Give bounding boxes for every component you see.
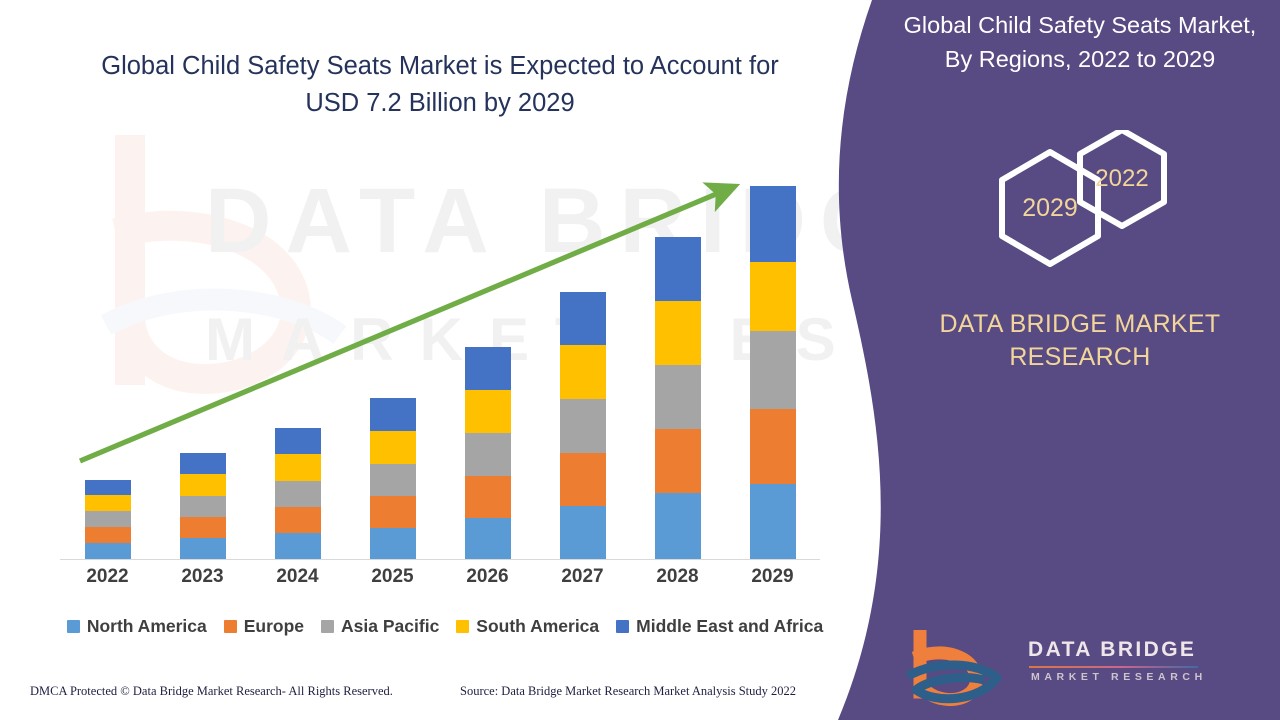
x-axis-tick-2028: 2028: [630, 566, 725, 588]
stacked-bar[interactable]: [370, 398, 416, 559]
bar-segment-europe[interactable]: [560, 453, 606, 506]
legend-swatch-icon: [67, 620, 80, 633]
bar-segment-north-america[interactable]: [370, 528, 416, 559]
bar-segment-middle-east-and-africa[interactable]: [655, 237, 701, 301]
right-panel-title: Global Child Safety Seats Market, By Reg…: [880, 8, 1280, 76]
bar-segment-europe[interactable]: [180, 517, 226, 538]
bar-segment-asia-pacific[interactable]: [85, 511, 131, 527]
bar-segment-asia-pacific[interactable]: [560, 399, 606, 453]
bar-group-2023: [155, 150, 250, 559]
x-axis-tick-2026: 2026: [440, 566, 535, 588]
bar-segment-europe[interactable]: [655, 429, 701, 493]
chart-panel: DATA BRIDGE MARKET RESEARCH Global Child…: [0, 0, 900, 720]
legend-item-middle-east-and-africa[interactable]: Middle East and Africa: [616, 616, 823, 637]
stacked-bar[interactable]: [180, 453, 226, 559]
bar-segment-europe[interactable]: [275, 507, 321, 533]
legend-label: North America: [87, 616, 207, 637]
chart-title-line-2: USD 7.2 Billion by 2029: [60, 85, 820, 122]
bar-group-2022: [60, 150, 155, 559]
logo-text-line-2: MARKET RESEARCH: [1031, 671, 1207, 683]
stacked-bar[interactable]: [750, 186, 796, 559]
right-panel-title-line-2: By Regions, 2022 to 2029: [892, 42, 1268, 76]
bar-segment-europe[interactable]: [465, 476, 511, 518]
stacked-bar[interactable]: [560, 292, 606, 559]
bar-segment-middle-east-and-africa[interactable]: [370, 398, 416, 431]
bar-segment-asia-pacific[interactable]: [655, 365, 701, 429]
legend-item-europe[interactable]: Europe: [224, 616, 304, 637]
legend-label: Europe: [244, 616, 304, 637]
right-panel-title-line-1: Global Child Safety Seats Market,: [892, 8, 1268, 42]
x-axis-tick-2023: 2023: [155, 566, 250, 588]
bar-series-container: [60, 150, 820, 559]
bar-segment-asia-pacific[interactable]: [750, 331, 796, 409]
bar-group-2027: [535, 150, 630, 559]
legend-label: Middle East and Africa: [636, 616, 823, 637]
chart-title-line-1: Global Child Safety Seats Market is Expe…: [60, 48, 820, 85]
bar-segment-asia-pacific[interactable]: [370, 464, 416, 496]
legend-swatch-icon: [456, 620, 469, 633]
x-axis-tick-2022: 2022: [60, 566, 155, 588]
x-axis-tick-2025: 2025: [345, 566, 440, 588]
hexagon-2022-label: 2022: [1095, 165, 1148, 192]
bar-segment-middle-east-and-africa[interactable]: [750, 186, 796, 262]
stacked-bar[interactable]: [465, 347, 511, 559]
bar-segment-middle-east-and-africa[interactable]: [85, 480, 131, 495]
bar-segment-middle-east-and-africa[interactable]: [275, 428, 321, 454]
brand-line-2: RESEARCH: [880, 341, 1280, 374]
bar-segment-south-america[interactable]: [370, 431, 416, 464]
legend-swatch-icon: [321, 620, 334, 633]
brand-line-1: DATA BRIDGE MARKET: [880, 308, 1280, 341]
bar-segment-south-america[interactable]: [85, 495, 131, 511]
footer-source: Source: Data Bridge Market Research Mark…: [460, 684, 796, 699]
bar-group-2026: [440, 150, 535, 559]
footer-copyright: DMCA Protected © Data Bridge Market Rese…: [30, 684, 393, 699]
bar-segment-south-america[interactable]: [750, 262, 796, 331]
bar-segment-north-america[interactable]: [85, 543, 131, 559]
bar-segment-north-america[interactable]: [655, 493, 701, 559]
legend-item-south-america[interactable]: South America: [456, 616, 599, 637]
right-panel-brand: DATA BRIDGE MARKET RESEARCH: [880, 308, 1280, 375]
legend-swatch-icon: [224, 620, 237, 633]
bar-group-2024: [250, 150, 345, 559]
legend-label: Asia Pacific: [341, 616, 439, 637]
legend-swatch-icon: [616, 620, 629, 633]
x-axis-tick-2024: 2024: [250, 566, 345, 588]
bar-segment-south-america[interactable]: [180, 474, 226, 496]
bar-group-2029: [725, 150, 820, 559]
plot-area: [60, 150, 820, 560]
bar-segment-europe[interactable]: [750, 409, 796, 484]
logo-divider: [1029, 666, 1198, 668]
bar-segment-north-america[interactable]: [465, 518, 511, 559]
stacked-bar[interactable]: [85, 480, 131, 559]
bar-segment-north-america[interactable]: [275, 533, 321, 559]
stacked-bar[interactable]: [275, 428, 321, 559]
bar-segment-south-america[interactable]: [655, 301, 701, 365]
hexagon-group: 2029 2022: [880, 130, 1280, 300]
legend-label: South America: [476, 616, 599, 637]
bar-segment-europe[interactable]: [85, 527, 131, 543]
stacked-bar[interactable]: [655, 237, 701, 559]
right-panel: Global Child Safety Seats Market, By Reg…: [880, 0, 1280, 720]
bar-segment-asia-pacific[interactable]: [180, 496, 226, 517]
bar-segment-north-america[interactable]: [180, 538, 226, 559]
chart-title: Global Child Safety Seats Market is Expe…: [60, 48, 820, 122]
bar-segment-asia-pacific[interactable]: [275, 481, 321, 507]
bar-segment-north-america[interactable]: [750, 484, 796, 559]
bar-segment-middle-east-and-africa[interactable]: [465, 347, 511, 390]
bar-group-2028: [630, 150, 725, 559]
bar-segment-north-america[interactable]: [560, 506, 606, 559]
bar-segment-asia-pacific[interactable]: [465, 433, 511, 476]
bar-segment-south-america[interactable]: [560, 345, 606, 399]
hexagon-2029-label: 2029: [1022, 194, 1078, 222]
data-bridge-b-d-logo-icon: [898, 630, 1018, 706]
x-axis-labels: 20222023202420252026202720282029: [60, 566, 820, 596]
legend-item-asia-pacific[interactable]: Asia Pacific: [321, 616, 439, 637]
x-axis-tick-2027: 2027: [535, 566, 630, 588]
x-axis-tick-2029: 2029: [725, 566, 820, 588]
bar-segment-south-america[interactable]: [275, 454, 321, 481]
legend-item-north-america[interactable]: North America: [67, 616, 207, 637]
bar-segment-europe[interactable]: [370, 496, 416, 528]
bar-group-2025: [345, 150, 440, 559]
chart-legend: North AmericaEuropeAsia PacificSouth Ame…: [60, 616, 830, 637]
infographic-root: DATA BRIDGE MARKET RESEARCH Global Child…: [0, 0, 1280, 720]
bar-segment-middle-east-and-africa[interactable]: [180, 453, 226, 474]
logo-text-line-1: DATA BRIDGE: [1028, 638, 1196, 662]
x-axis-line: [60, 559, 820, 560]
data-bridge-logo: DATA BRIDGE MARKET RESEARCH: [898, 630, 1268, 710]
bar-segment-middle-east-and-africa[interactable]: [560, 292, 606, 345]
bar-segment-south-america[interactable]: [465, 390, 511, 433]
